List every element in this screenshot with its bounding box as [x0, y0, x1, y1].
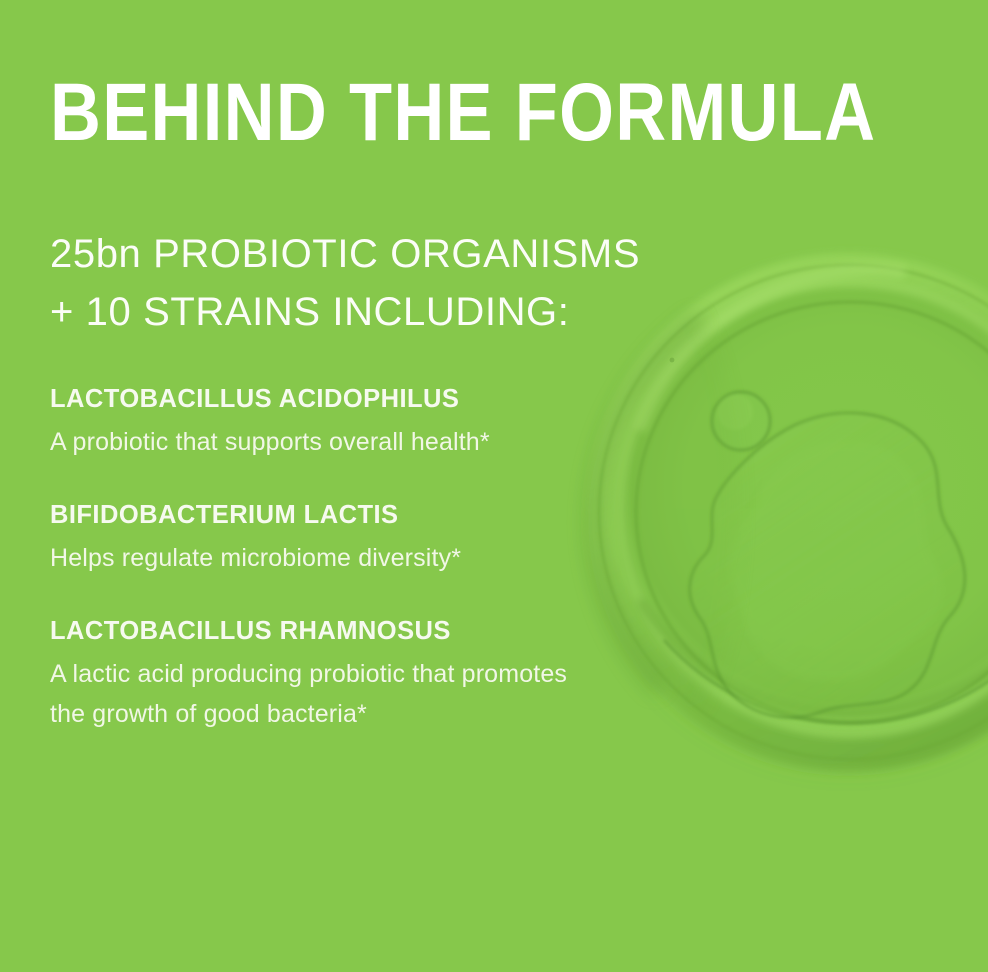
poster-canvas: BEHIND THE FORMULA 25bn PROBIOTIC ORGANI… [0, 0, 988, 972]
dish-drop-shadow [586, 262, 988, 778]
strain-description: A probiotic that supports overall health… [50, 422, 570, 462]
strain-list: LACTOBACILLUS ACIDOPHILUS A probiotic th… [50, 382, 610, 734]
dish-outer-edge [599, 265, 988, 759]
strain-name: BIFIDOBACTERIUM LACTIS [50, 498, 610, 532]
subheading: 25bn PROBIOTIC ORGANISMS + 10 STRAINS IN… [50, 225, 640, 341]
dish-speck [670, 358, 675, 363]
dish-body [598, 264, 988, 760]
gel-blob [690, 413, 965, 718]
strain-description: A lactic acid producing probiotic that p… [50, 654, 595, 734]
page-title: BEHIND THE FORMULA [50, 72, 876, 154]
dish-outer-rim [604, 270, 988, 754]
list-item: LACTOBACILLUS ACIDOPHILUS A probiotic th… [50, 382, 610, 462]
dish-inner-rim [636, 302, 988, 722]
dish-highlight-arc [640, 270, 905, 430]
dish-bottom-rim-shadow [640, 600, 988, 713]
strain-description: Helps regulate microbiome diversity* [50, 538, 570, 578]
gel-bubble-sheen [717, 394, 753, 430]
list-item: BIFIDOBACTERIUM LACTIS Helps regulate mi… [50, 498, 610, 578]
dish-bottom-edge [664, 640, 988, 723]
dish-contents [580, 282, 965, 742]
strain-name: LACTOBACILLUS RHAMNOSUS [50, 614, 610, 648]
gel-bubble [712, 392, 770, 450]
list-item: LACTOBACILLUS RHAMNOSUS A lactic acid pr… [50, 614, 610, 734]
strain-name: LACTOBACILLUS ACIDOPHILUS [50, 382, 610, 416]
dish-lid-ring [620, 282, 988, 734]
gel-blob-highlight [727, 441, 943, 681]
subheading-line-1: 25bn PROBIOTIC ORGANISMS [50, 225, 640, 283]
subheading-line-2: + 10 STRAINS INCLUDING: [50, 283, 640, 341]
